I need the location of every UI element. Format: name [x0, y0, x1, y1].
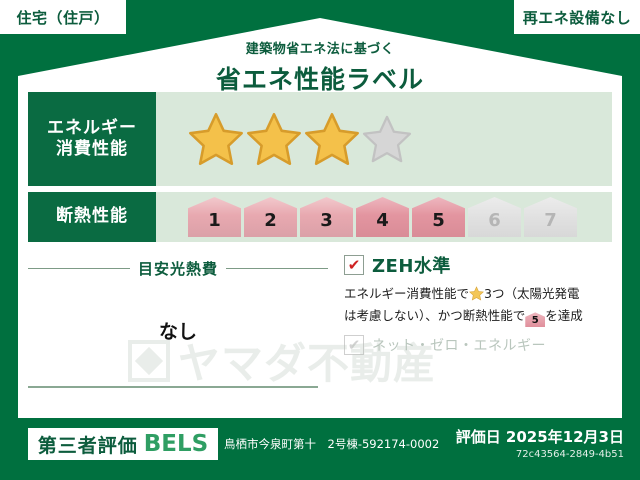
zeh-checkbox-icon: ✔ [344, 255, 364, 275]
star-filled-icon [188, 111, 244, 167]
badge-renewable-equipment: 再エネ設備なし [514, 0, 640, 34]
evaluation-id: 72c43564-2849-4b51 [456, 449, 624, 460]
net-zero-energy-row: ✔ ネット・ゼロ・エネルギー [344, 335, 612, 355]
insulation-level-7: 7 [524, 197, 577, 237]
energy-performance-row: エネルギー 消費性能 [28, 92, 612, 186]
zeh-title: ZEH水準 [372, 252, 451, 278]
insulation-level-3: 3 [300, 197, 353, 237]
insulation-label-text: 断熱性能 [56, 206, 128, 227]
rule-left [28, 268, 130, 269]
mini-star-icon [469, 286, 484, 306]
zeh-desc-part3: を達成 [545, 308, 583, 323]
insulation-level-6: 6 [468, 197, 521, 237]
rule-right [226, 268, 328, 269]
utility-cost-underline [28, 386, 318, 388]
utility-cost-title: 目安光熱費 [138, 258, 218, 279]
insulation-level-4: 4 [356, 197, 409, 237]
energy-star-rating [156, 92, 612, 186]
utility-cost-header: 目安光熱費 [28, 258, 328, 279]
utility-cost-value: なし [28, 317, 328, 344]
insulation-level-5: 5 [412, 197, 465, 237]
evaluation-date: 評価日 2025年12月3日 [456, 426, 624, 447]
insulation-level-scale: 1234567 [156, 192, 612, 242]
zeh-panel: ✔ ZEH水準 エネルギー消費性能で 3つ（太陽光発電 は考慮しない）、かつ断熱… [344, 252, 612, 410]
insulation-performance-row: 断熱性能 1234567 [28, 192, 612, 242]
net-zero-checkbox-icon: ✔ [344, 335, 364, 355]
insulation-level-2: 2 [244, 197, 297, 237]
zeh-desc-part1: エネルギー消費性能で [344, 286, 469, 301]
bels-logo: 第三者評価 BELS [28, 428, 218, 460]
performance-card: エネルギー 消費性能 断熱性能 1234567 目安光熱費 なし ✔ [28, 92, 612, 410]
insulation-level-1: 1 [188, 197, 241, 237]
footer: 第三者評価 BELS 鳥栖市今泉町第十 2号棟-592174-0002 評価日 … [0, 418, 640, 480]
insulation-performance-label: 断熱性能 [28, 192, 156, 242]
bels-jp-text: 第三者評価 [38, 431, 138, 458]
footer-meta: 評価日 2025年12月3日 72c43564-2849-4b51 [456, 426, 624, 460]
energy-label-line1: エネルギー [47, 118, 137, 139]
lower-section: 目安光熱費 なし ✔ ZEH水準 エネルギー消費性能で 3つ（太陽光発電 は考慮… [28, 252, 612, 410]
utility-cost-panel: 目安光熱費 なし [28, 252, 328, 410]
star-filled-icon [246, 111, 302, 167]
zeh-description: エネルギー消費性能で 3つ（太陽光発電 は考慮しない）、かつ断熱性能で5を達成 [344, 284, 612, 327]
bels-en-text: BELS [144, 431, 208, 457]
net-zero-title: ネット・ゼロ・エネルギー [372, 335, 546, 355]
star-filled-icon [304, 111, 360, 167]
badge-dwelling-type: 住宅（住戸） [0, 0, 126, 34]
zeh-desc-star-count: 3つ（太陽光発電 [484, 286, 579, 301]
footer-address: 鳥栖市今泉町第十 2号棟-592174-0002 [224, 436, 439, 452]
mini-house-badge-icon: 5 [525, 312, 545, 327]
zeh-title-row: ✔ ZEH水準 [344, 252, 612, 278]
energy-label-line2: 消費性能 [56, 139, 128, 160]
energy-performance-label: エネルギー 消費性能 [28, 92, 156, 186]
star-empty-icon [362, 114, 412, 164]
zeh-desc-part2: は考慮しない）、かつ断熱性能で [344, 308, 525, 323]
